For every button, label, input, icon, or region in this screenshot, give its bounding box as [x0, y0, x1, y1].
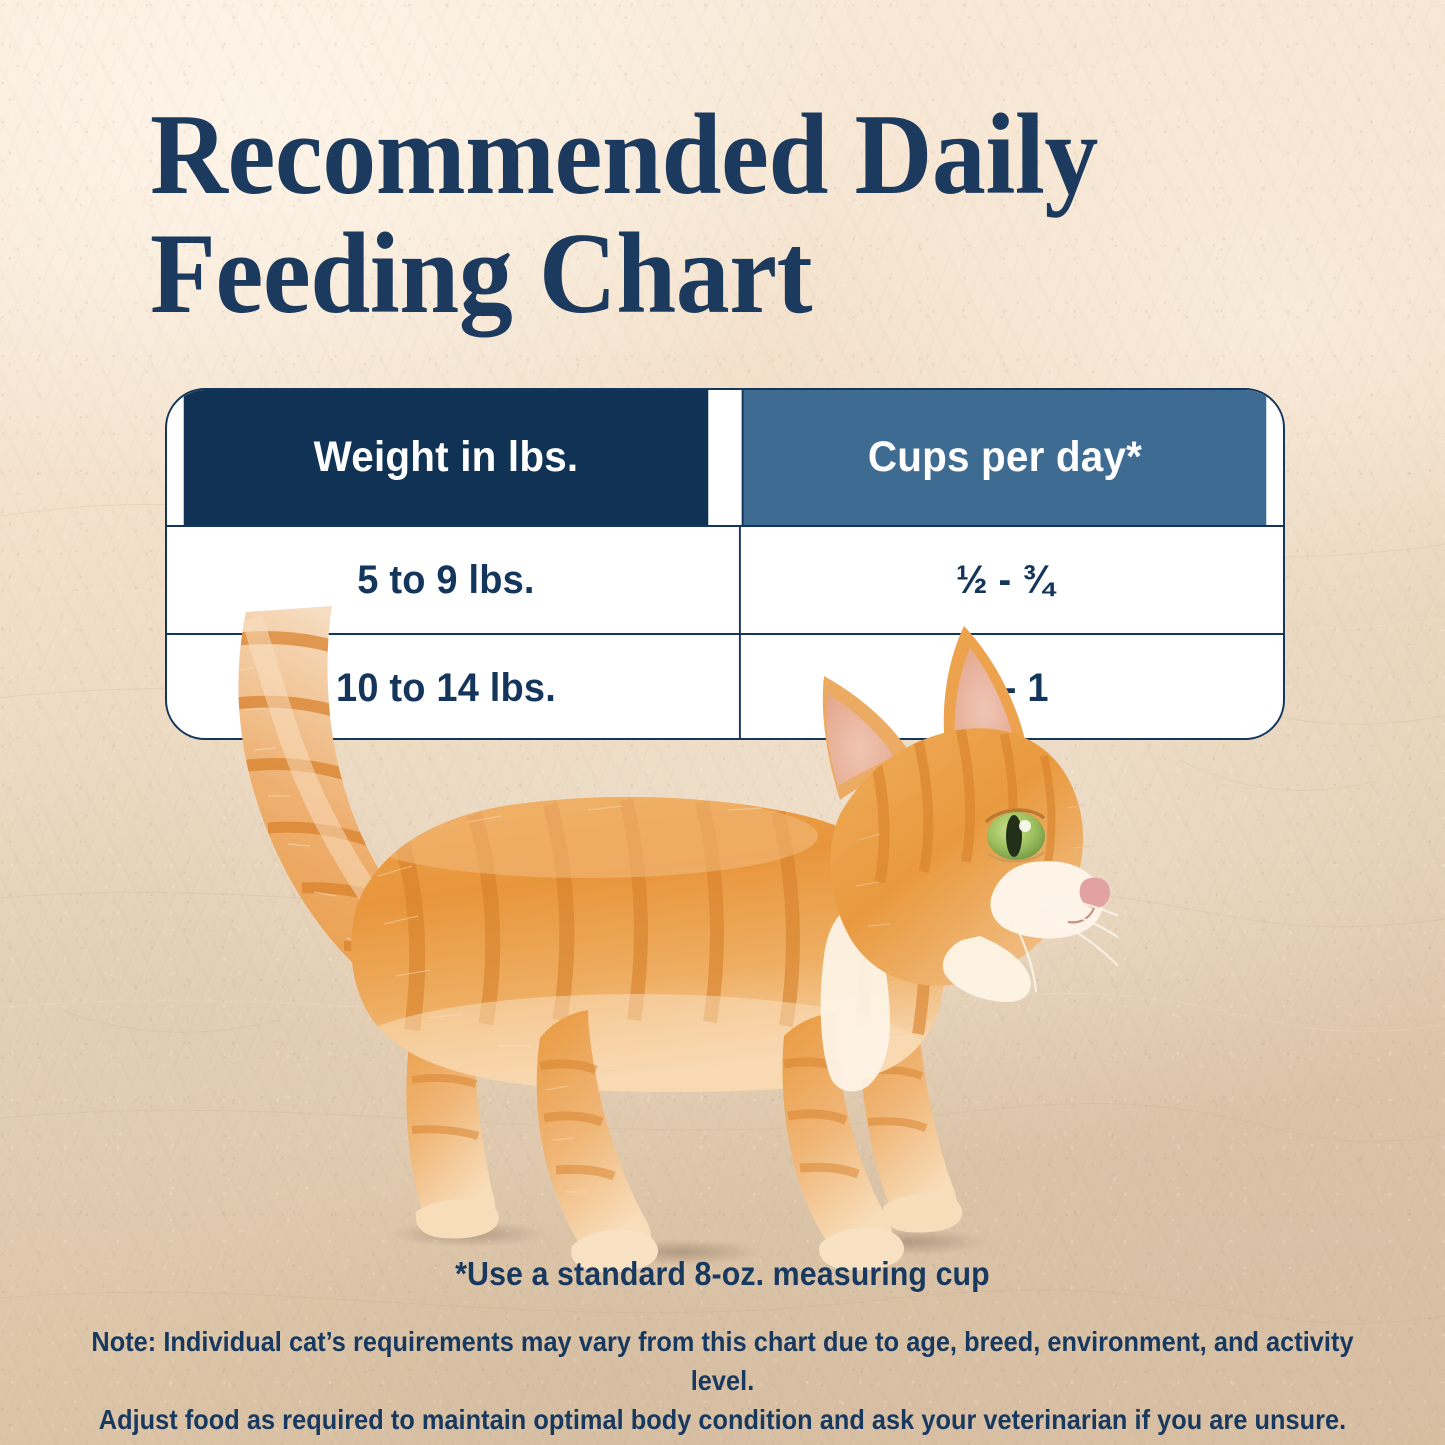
- column-header-weight: Weight in lbs.: [184, 390, 709, 525]
- cat-head: [823, 626, 1118, 1002]
- measuring-cup-footnote: *Use a standard 8-oz. measuring cup: [58, 1255, 1387, 1293]
- column-header-cups: Cups per day*: [742, 390, 1267, 525]
- cat-illustration: [168, 600, 1118, 1280]
- disclaimer-note: Note: Individual cat’s requirements may …: [58, 1322, 1387, 1439]
- page-title: Recommended Daily Feeding Chart: [150, 96, 1266, 335]
- feeding-chart-page: Recommended Daily Feeding Chart Weight i…: [0, 0, 1445, 1445]
- table-header-row: Weight in lbs. Cups per day*: [167, 390, 1283, 525]
